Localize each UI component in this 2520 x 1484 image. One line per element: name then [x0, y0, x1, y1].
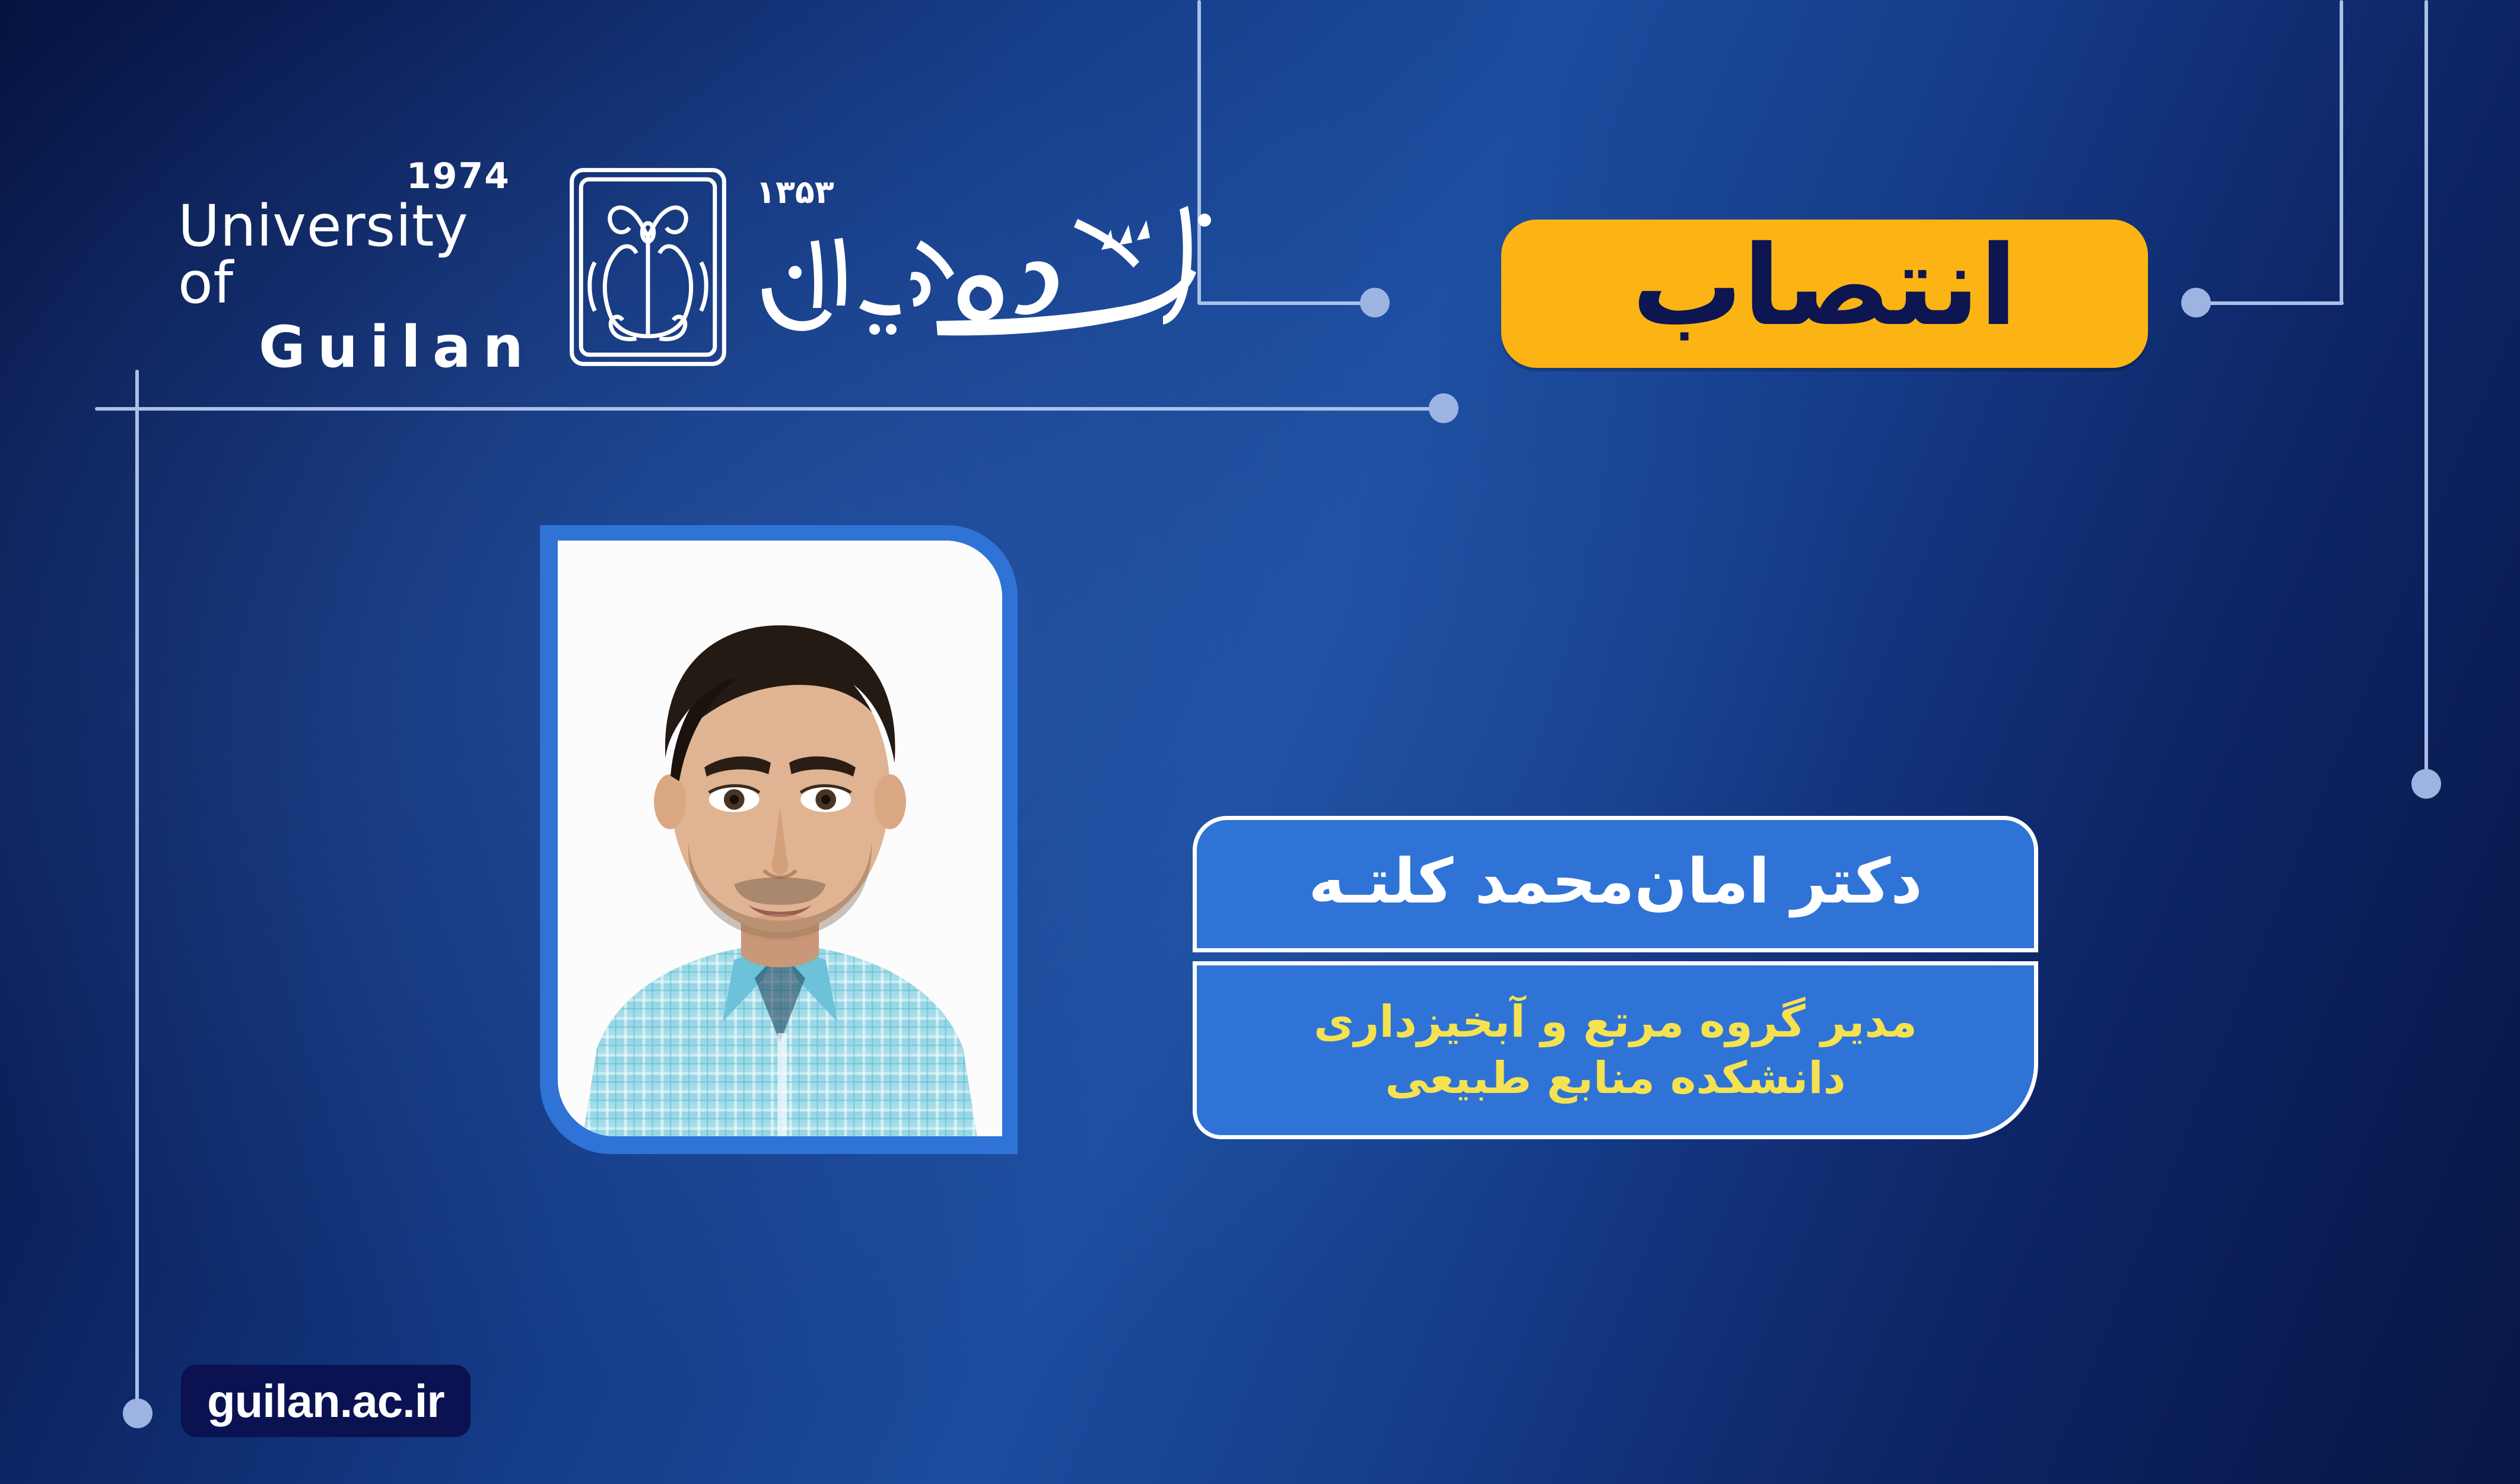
logo-english-text: 1974 University of Guilan	[178, 158, 538, 376]
guilan-butterfly-mark-icon	[553, 163, 743, 371]
decor-vline-top-right	[2340, 0, 2343, 304]
decor-dot-right-edge	[2411, 769, 2441, 799]
appointment-badge-label: انتصاب	[1632, 236, 2017, 335]
appointment-badge: انتصاب	[1501, 220, 2148, 368]
decor-hline-top-right	[2195, 301, 2344, 305]
person-name: دکتر امان‌محمد کلتـه	[1308, 850, 1922, 912]
portrait-illustration-icon	[558, 541, 1002, 1136]
decor-vline-left-edge	[135, 370, 139, 1404]
decor-hline-top-center	[1197, 301, 1375, 305]
decor-dot-under-logo	[1429, 393, 1458, 423]
person-title-line-1: مدیر گروه مرتع و آبخیزداری	[1314, 994, 1917, 1050]
logo-persian-block: ۱۳۵۳	[748, 173, 1222, 361]
logo-year-latin: 1974	[406, 158, 510, 194]
website-url-label: guilan.ac.ir	[207, 1374, 444, 1428]
logo-line-guilan: Guilan	[259, 319, 535, 376]
announcement-poster: 1974 University of Guilan ۱۳۵۳	[0, 0, 2520, 1484]
portrait-frame	[540, 525, 1018, 1154]
logo-persian-wordmark-icon	[748, 183, 1222, 361]
person-name-banner: دکتر امان‌محمد کلتـه	[1193, 816, 2038, 952]
person-title-line-2: دانشکده منابع طبیعی	[1385, 1050, 1845, 1107]
decor-hline-under-logo	[95, 407, 1442, 411]
logo-line-university-of: University of	[178, 198, 538, 312]
decor-dot-left-edge	[123, 1399, 152, 1428]
person-title-banner: مدیر گروه مرتع و آبخیزداری دانشکده منابع…	[1193, 961, 2038, 1139]
decor-dot-top-right	[2181, 288, 2211, 317]
website-url-pill[interactable]: guilan.ac.ir	[181, 1365, 471, 1437]
university-logo: 1974 University of Guilan ۱۳۵۳	[178, 148, 1222, 386]
decor-vline-right-edge	[2424, 0, 2428, 782]
portrait-photo	[558, 541, 1002, 1136]
decor-dot-top-center	[1360, 288, 1390, 317]
